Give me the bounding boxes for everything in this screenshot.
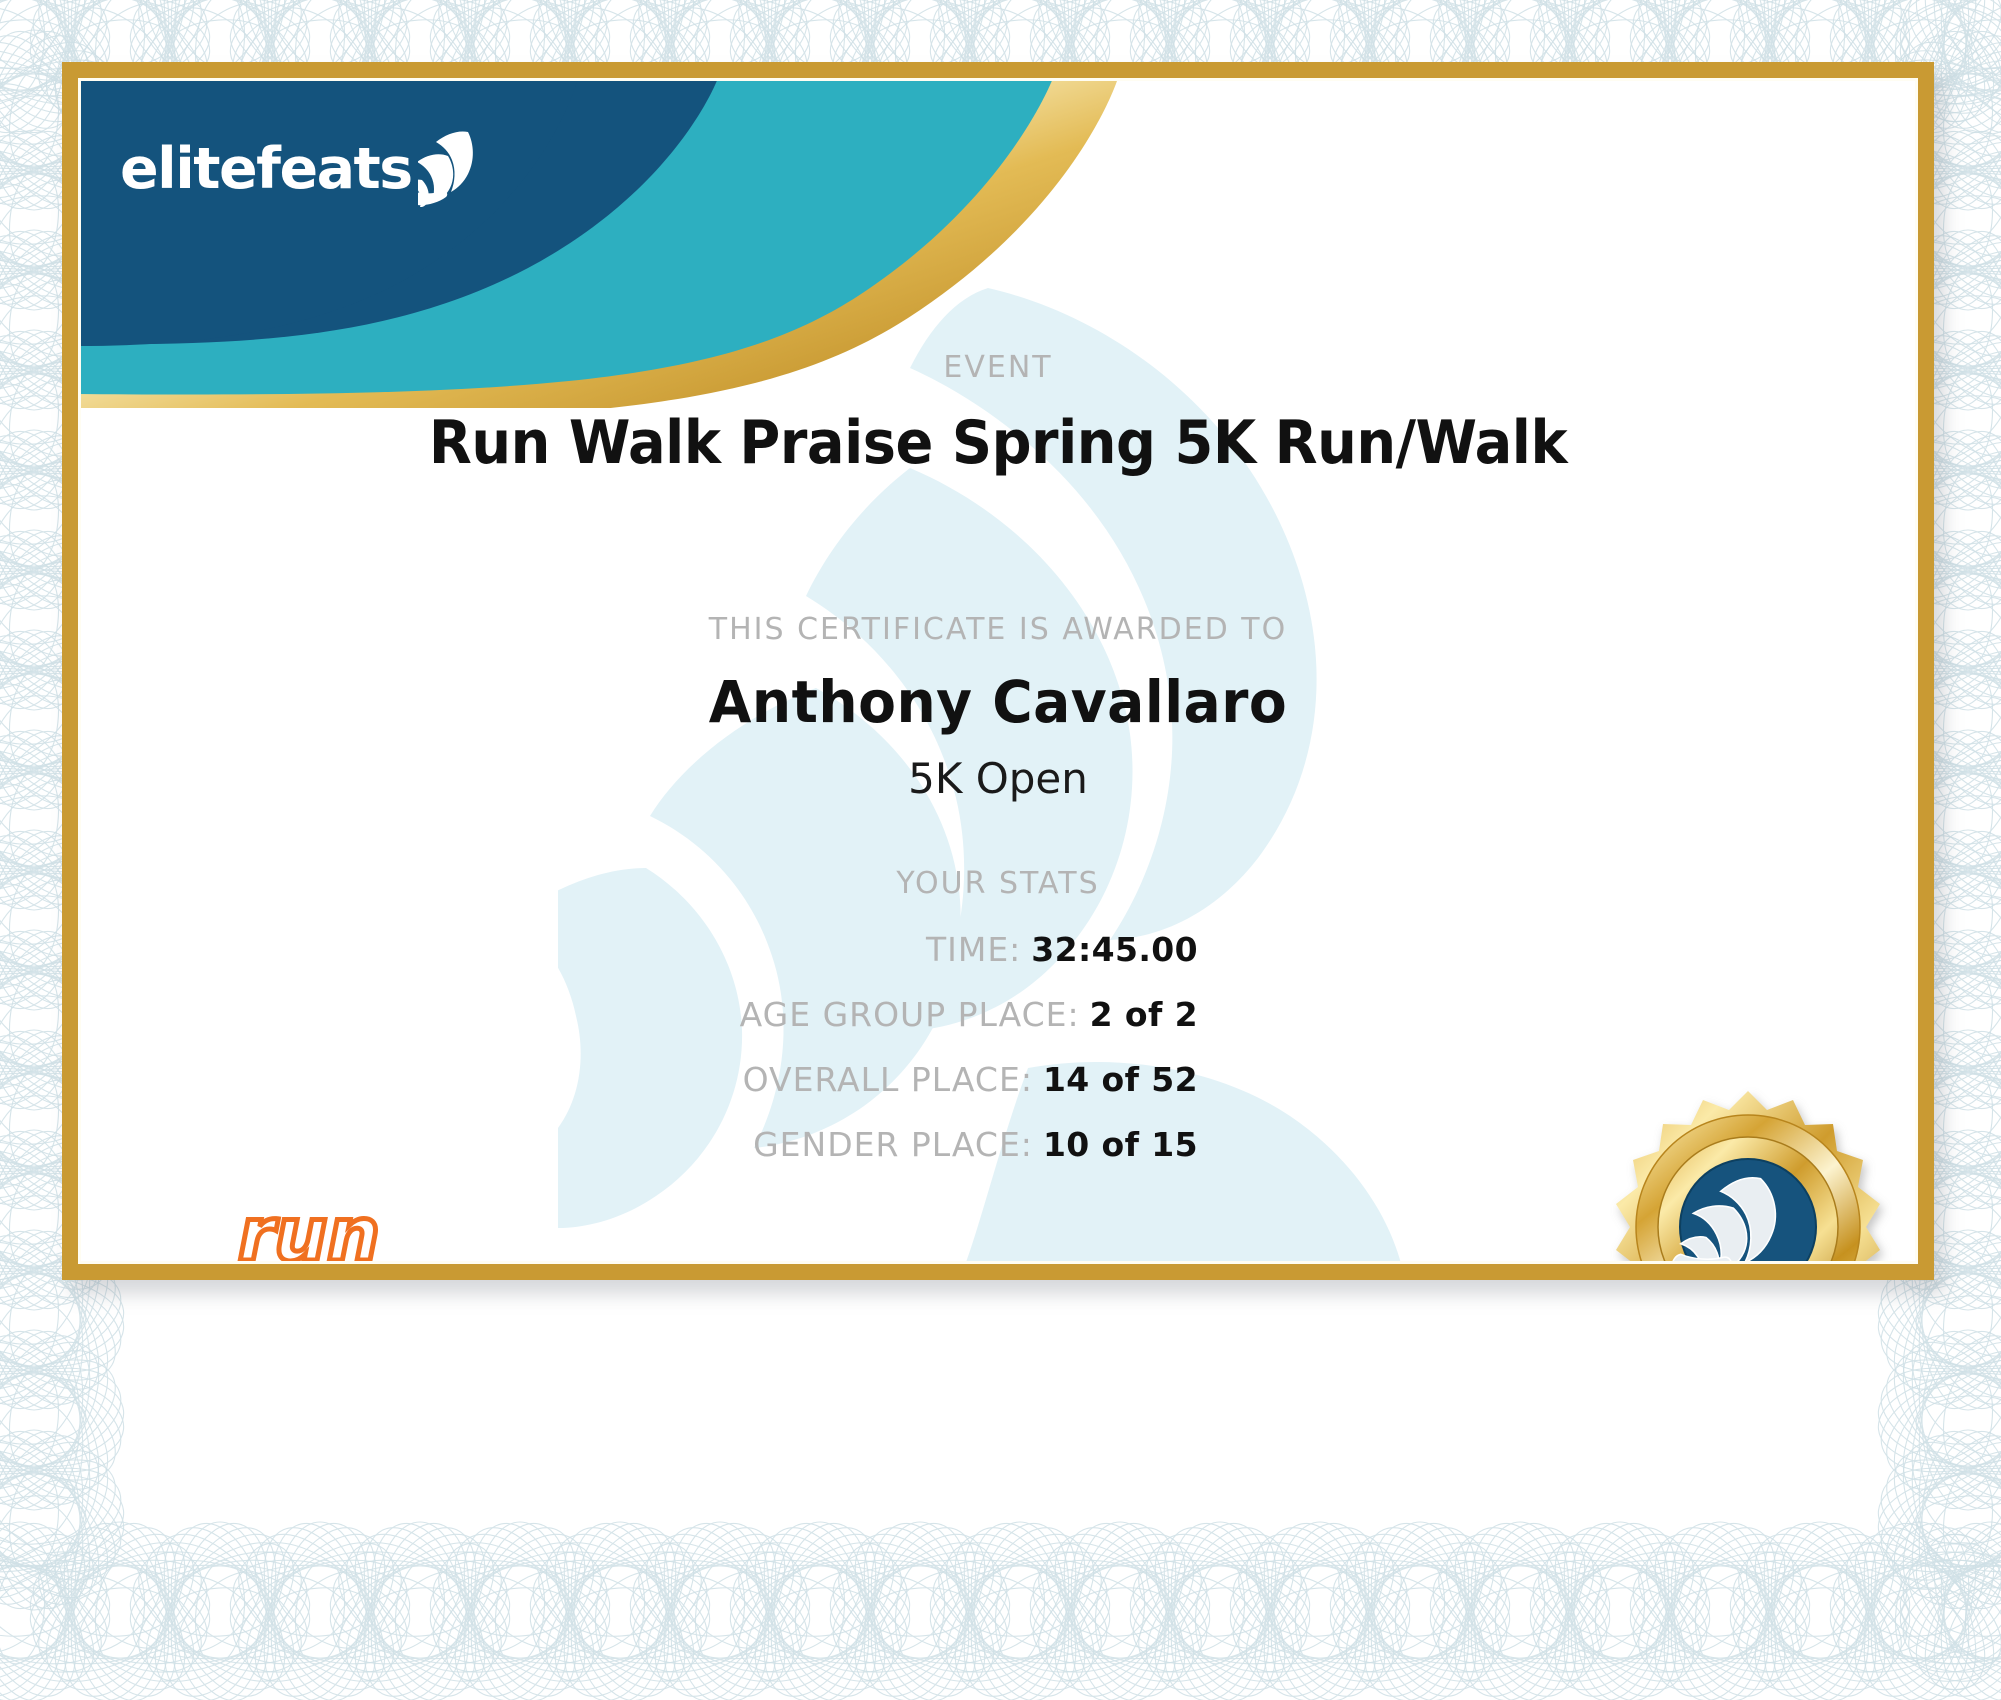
stat-key: OVERALL PLACE: xyxy=(743,1060,1033,1099)
recipient-name: Anthony Cavallaro xyxy=(124,668,1872,736)
elitefeats-logo: elitefeats xyxy=(120,130,488,208)
rwp-line-walk: walk xyxy=(274,1252,471,1280)
stat-row-gender-place: GENDER PLACE: 10 of 15 xyxy=(78,1125,1198,1164)
elitefeats-wordmark: elitefeats xyxy=(120,141,412,198)
run-walk-praise-logo: run walk praise ™ soul joy ™ xyxy=(230,1188,580,1280)
stat-value: 10 of 15 xyxy=(1043,1125,1198,1164)
medal-rosette xyxy=(1616,1091,1880,1280)
rwp-line-run: run xyxy=(238,1192,380,1278)
stat-key: AGE GROUP PLACE: xyxy=(740,995,1080,1034)
certificate-page: elitefeats EVENT Run Walk Praise Spring … xyxy=(0,0,2001,1700)
event-label: EVENT xyxy=(78,350,1918,385)
stat-value: 32:45.00 xyxy=(1031,930,1198,969)
winged-foot-icon xyxy=(418,130,488,208)
finisher-medal-block: 2025 xyxy=(1583,1083,1913,1280)
awarded-to-label: THIS CERTIFICATE IS AWARDED TO xyxy=(78,612,1918,647)
finisher-medal-badge: 2025 xyxy=(1583,1083,1913,1280)
event-name: Run Walk Praise Spring 5K Run/Walk xyxy=(142,408,1853,478)
certificate-gold-frame: elitefeats EVENT Run Walk Praise Spring … xyxy=(62,62,1934,1280)
stat-key: TIME: xyxy=(926,930,1021,969)
your-stats-label: YOUR STATS xyxy=(78,866,1918,901)
stat-value: 14 of 52 xyxy=(1043,1060,1198,1099)
stat-value: 2 of 2 xyxy=(1090,995,1198,1034)
stat-row-overall-place: OVERALL PLACE: 14 of 52 xyxy=(78,1060,1198,1099)
stat-row-age-group-place: AGE GROUP PLACE: 2 of 2 xyxy=(78,995,1198,1034)
stat-key: GENDER PLACE: xyxy=(753,1125,1033,1164)
stats-list: TIME: 32:45.00 AGE GROUP PLACE: 2 of 2 O… xyxy=(78,930,1198,1190)
stat-row-time: TIME: 32:45.00 xyxy=(78,930,1198,969)
certificate-content: EVENT Run Walk Praise Spring 5K Run/Walk… xyxy=(78,78,1918,1264)
recipient-division: 5K Open xyxy=(78,754,1918,803)
